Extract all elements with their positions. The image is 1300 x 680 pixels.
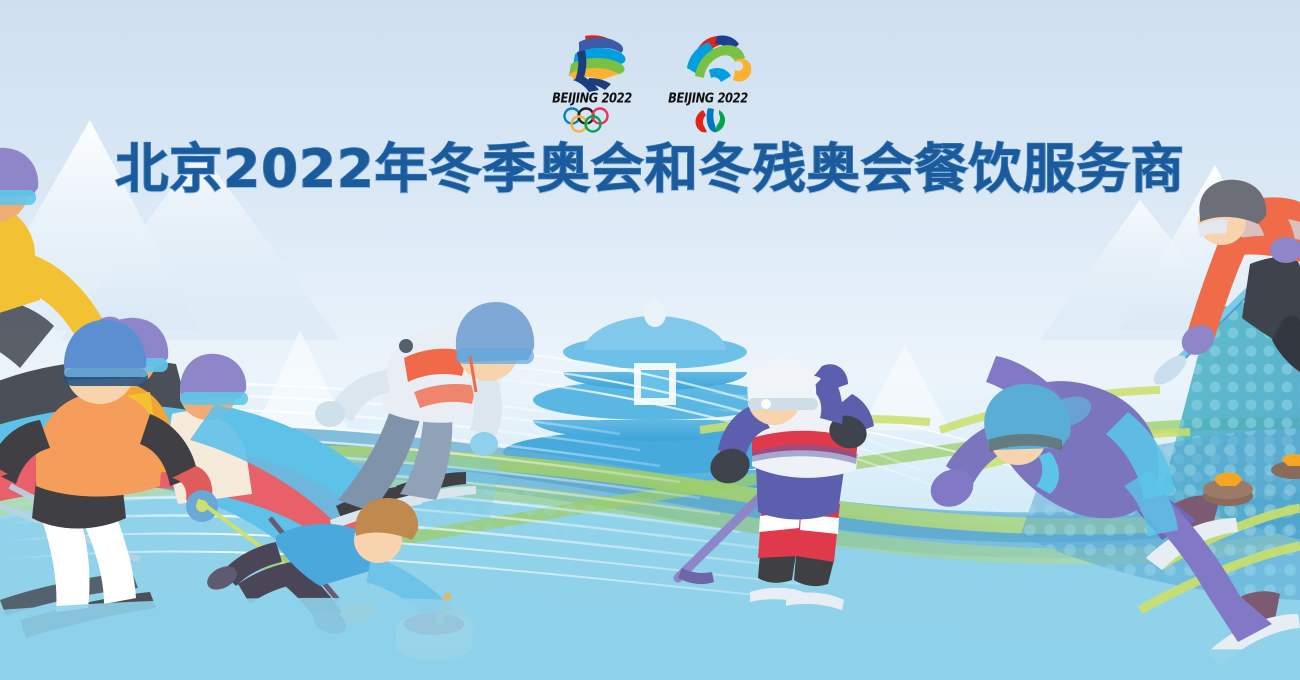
beijing-2022-olympic-emblem: BEIJING 2022 xyxy=(543,32,641,132)
winter-dream-ribbon-icon xyxy=(543,32,641,92)
emblem-wordmark: BEIJING 2022 xyxy=(659,90,757,106)
emblem-row: BEIJING 2022 xyxy=(0,32,1300,132)
page-title: 北京2022年冬季奥会和冬残奥会餐饮服务商 xyxy=(115,142,1185,198)
leap-ribbon-icon xyxy=(659,32,757,92)
emblem-wordmark: BEIJING 2022 xyxy=(543,90,641,106)
paralympic-agitos-icon xyxy=(677,107,739,133)
olympic-banner: BEIJING 2022 xyxy=(0,0,1300,680)
beijing-2022-paralympic-emblem: BEIJING 2022 xyxy=(659,32,757,132)
page-title-container: 北京2022年冬季奥会和冬残奥会餐饮服务商 xyxy=(0,142,1300,198)
olympic-rings-icon xyxy=(561,107,623,133)
